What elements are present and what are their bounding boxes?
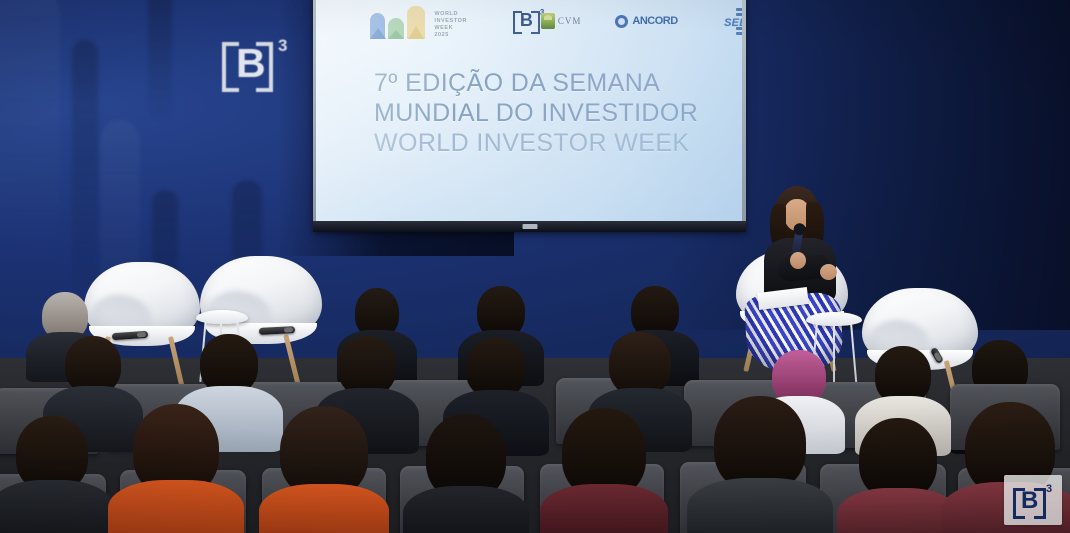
audience-member xyxy=(846,418,950,533)
audience-member xyxy=(0,416,104,533)
audience-body xyxy=(108,480,244,533)
audience-body xyxy=(687,478,833,533)
audience-member xyxy=(700,396,820,533)
ancord-label: ANCORD xyxy=(632,15,677,27)
sebrae-label: SEBRAE xyxy=(712,17,742,29)
wall-panel xyxy=(0,0,60,280)
speaker-hand xyxy=(790,252,806,269)
audience-member xyxy=(548,408,660,533)
audience-member xyxy=(118,404,234,533)
wiw-logo-text: WORLD INVESTOR WEEK 2025 xyxy=(434,11,469,39)
b3-slide-bracket-right-icon xyxy=(531,11,540,34)
watermark-bracket-right-icon xyxy=(1034,488,1046,519)
audience-member xyxy=(412,414,520,533)
wall-panel xyxy=(148,0,172,120)
screen-center-tab xyxy=(522,224,537,229)
screen-surface: WORLD INVESTOR WEEK 2025 B 3 CVM xyxy=(316,0,742,222)
screen-bottom-bar xyxy=(313,221,746,232)
ancord-logo: ANCORD xyxy=(615,15,677,28)
projection-screen: WORLD INVESTOR WEEK 2025 B 3 CVM xyxy=(313,0,746,232)
chair-leg xyxy=(168,336,185,389)
audience-head xyxy=(338,336,396,396)
wiw-tower-gold-icon xyxy=(407,6,425,39)
b3-wall-logo: B 3 xyxy=(222,36,296,94)
audience-body xyxy=(0,480,115,533)
audience-body xyxy=(403,486,529,533)
b3-superscript: 3 xyxy=(278,36,287,56)
wiw-tower-blue-icon xyxy=(370,13,385,39)
world-investor-week-logo: WORLD INVESTOR WEEK 2025 xyxy=(370,3,469,39)
wiw-text-line1: WORLD xyxy=(434,11,469,18)
cvm-label: CVM xyxy=(558,16,582,26)
audience-body xyxy=(540,484,668,533)
wiw-text-line2: INVESTOR xyxy=(434,18,469,25)
b3-watermark: B 3 xyxy=(1004,475,1062,525)
ancord-circle-icon xyxy=(615,15,628,28)
audience-head xyxy=(466,338,526,398)
audience-member xyxy=(268,406,380,533)
audience-head xyxy=(200,334,258,394)
slide-title-line-2: MUNDIAL DO INVESTIDOR xyxy=(374,98,724,128)
presentation-slide: WORLD INVESTOR WEEK 2025 B 3 CVM xyxy=(316,0,742,222)
b3-slide-logo: B 3 xyxy=(511,8,517,34)
slide-title: 7º EDIÇÃO DA SEMANA MUNDIAL DO INVESTIDO… xyxy=(374,68,724,158)
slide-logo-row: WORLD INVESTOR WEEK 2025 B 3 CVM xyxy=(370,1,722,41)
wall-panel xyxy=(72,40,98,290)
cvm-logo: CVM xyxy=(541,13,582,29)
wiw-text-line3: WEEK 2025 xyxy=(434,25,469,39)
slide-title-line-1: 7º EDIÇÃO DA SEMANA xyxy=(374,68,724,98)
conference-photo-stage: B 3 WORLD INVESTOR WEEK 2025 xyxy=(0,0,1070,533)
speaker-hand xyxy=(820,264,837,280)
sebrae-logo: SEBRAE xyxy=(712,8,722,34)
cvm-shield-icon xyxy=(541,13,555,29)
b3-bracket-right-icon xyxy=(256,42,273,92)
wiw-tower-green-icon xyxy=(388,18,403,39)
slide-title-line-3: WORLD INVESTOR WEEK xyxy=(374,128,724,158)
watermark-superscript: 3 xyxy=(1046,483,1052,495)
audience-body xyxy=(259,484,389,533)
audience-head xyxy=(609,332,671,396)
